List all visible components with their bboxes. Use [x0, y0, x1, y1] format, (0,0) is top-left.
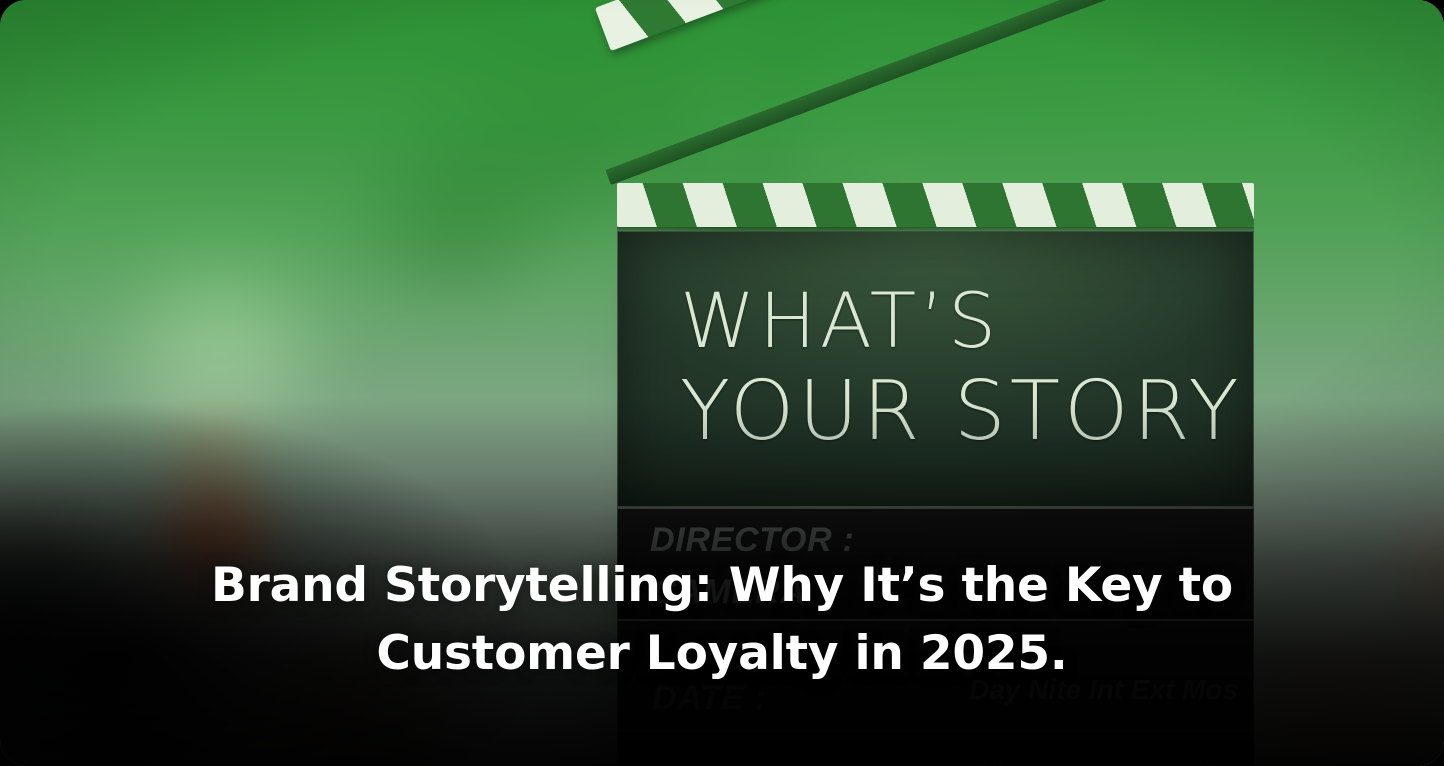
headline-line-2: Customer Loyalty in 2025. — [60, 620, 1384, 688]
headline-line-1: Brand Storytelling: Why It’s the Key to — [60, 552, 1384, 620]
page-title: Brand Storytelling: Why It’s the Key to … — [0, 552, 1444, 688]
hero-banner: WHAT’S YOUR STORY DIRECTOR : CAMERA DATE… — [0, 0, 1444, 766]
